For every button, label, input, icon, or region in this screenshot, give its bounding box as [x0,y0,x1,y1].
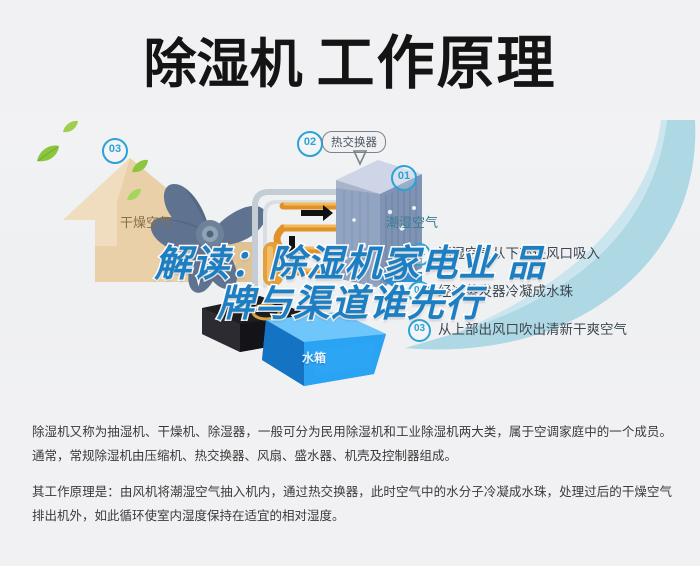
badge-step-01: 01 [408,243,431,266]
page-title-part2: 工作原理 [316,35,556,93]
leaf-icon [36,144,60,164]
badge-step-02: 02 [408,281,431,304]
step-text-01: 潮湿空气从下部进风口吸入 [438,242,600,262]
article-paragraph-2: 其工作原理是：由风机将潮湿空气抽入机内，通过热交换器，此时空气中的水分子冷凝成水… [32,480,672,528]
leaf-icon [131,159,149,174]
base-and-water-tank [200,290,390,395]
badge-step-03: 03 [408,319,431,342]
label-water-tank: 水箱 [302,349,326,366]
callout-pointer-icon [352,150,368,166]
page-title-part1: 除湿机 [143,38,302,91]
badge-03-diagram: 03 [102,138,128,164]
article-body: 除湿机又称为抽湿机、干燥机、除湿器，一般可分为民用除湿机和工业除湿机两大类，属于… [0,404,700,566]
badge-02-diagram: 02 [297,131,323,157]
step-list: 01 潮湿空气从下部进风口吸入 02 经过蒸发器冷凝成水珠 03 从上部出风口吹… [408,240,698,354]
step-item: 01 潮湿空气从下部进风口吸入 [408,240,698,278]
badge-01-diagram: 01 [391,165,417,191]
leaf-icon [62,120,79,134]
page-title: 除湿机 工作原理 [0,22,700,106]
label-dry-air: 干燥空气 [120,212,172,231]
step-text-02: 经过蒸发器冷凝成水珠 [438,280,573,300]
infographic-page: 除湿机 工作原理 [0,0,700,566]
step-item: 02 经过蒸发器冷凝成水珠 [408,278,698,316]
infographic-illustration: 03 干燥空气 02 热交换器 01 潮湿空气 水箱 01 潮湿空气从下部进风口… [0,112,700,400]
step-item: 03 从上部出风口吹出清新干爽空气 [408,316,698,354]
step-text-03: 从上部出风口吹出清新干爽空气 [438,318,627,338]
leaf-icon [126,188,142,202]
article-paragraph-1: 除湿机又称为抽湿机、干燥机、除湿器，一般可分为民用除湿机和工业除湿机两大类，属于… [32,420,672,468]
label-humid-air: 潮湿空气 [386,212,438,231]
